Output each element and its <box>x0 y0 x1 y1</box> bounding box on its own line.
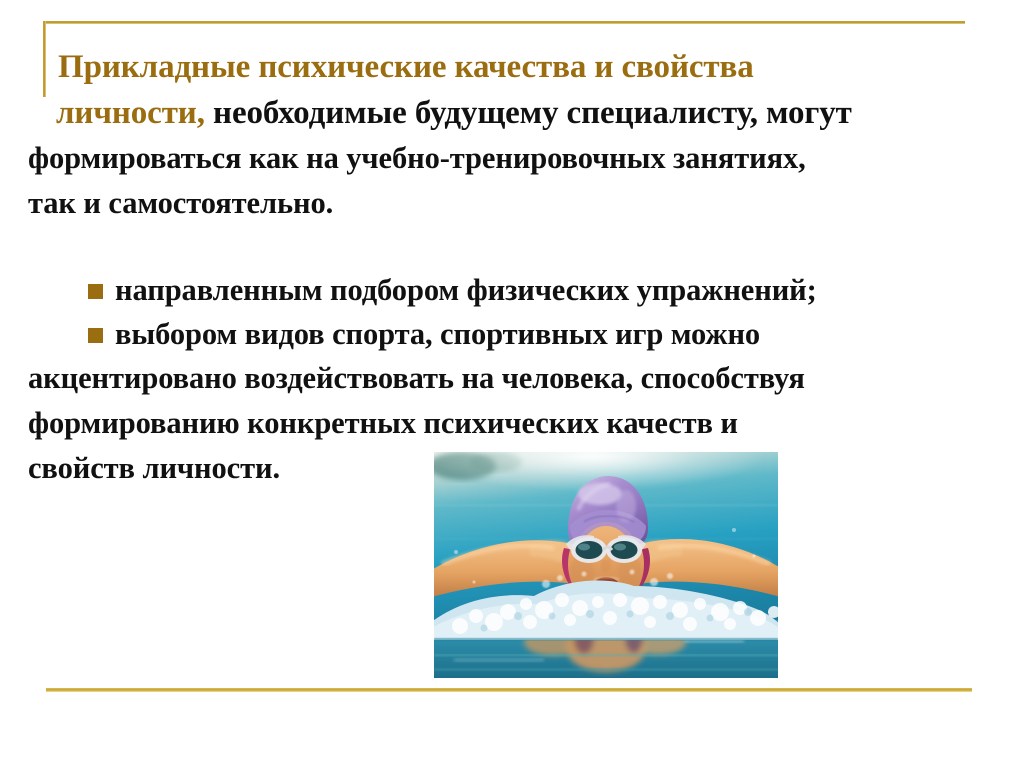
bottom-gold-rule <box>46 688 972 692</box>
presentation-slide: Прикладные психические качества и свойст… <box>0 0 1024 768</box>
list-item-label: выбором видов спорта, спортивных игр мож… <box>115 312 760 356</box>
continuation-line-1: акцентировано воздействовать на человека… <box>0 356 1024 401</box>
slide-text-block: Прикладные психические качества и свойст… <box>0 44 1024 491</box>
list-item: направленным подбором физических упражне… <box>0 268 1024 312</box>
paragraph-spacer <box>0 226 1024 268</box>
body-line-1: формироваться как на учебно-тренировочны… <box>0 136 1024 181</box>
page-title-text: Прикладные психические качества и свойст… <box>58 49 754 85</box>
list-item-label: направленным подбором физических упражне… <box>115 268 817 312</box>
page-title-accent-word: личности, <box>56 95 205 131</box>
swimmer-photo <box>434 452 778 678</box>
square-bullet-icon <box>88 328 103 343</box>
square-bullet-icon <box>88 284 103 299</box>
page-title-line-1: Прикладные психические качества и свойст… <box>0 44 1024 90</box>
continuation-line-2: формированию конкретных психических каче… <box>0 401 1024 446</box>
list-item: выбором видов спорта, спортивных игр мож… <box>0 312 1024 356</box>
body-line-2: так и самостоятельно. <box>0 181 1024 226</box>
page-title-continuation: необходимые будущему специалисту, могут <box>205 95 852 131</box>
page-title-line-2: личности, необходимые будущему специалис… <box>0 90 1024 136</box>
top-gold-rule <box>43 21 965 24</box>
